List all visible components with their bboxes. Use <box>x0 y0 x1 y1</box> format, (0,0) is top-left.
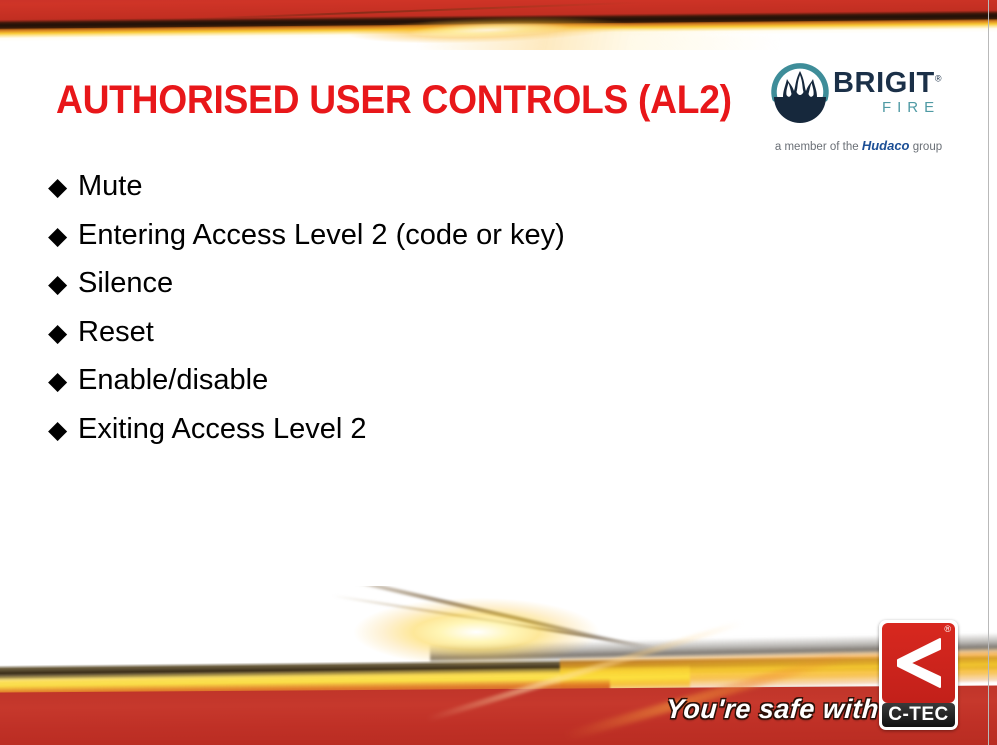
brigit-flame-circle-icon <box>765 61 835 127</box>
slide-title: AUTHORISED USER CONTROLS (AL2) <box>56 78 732 123</box>
list-item: ◆ Mute <box>48 172 768 221</box>
presentation-slide: AUTHORISED USER CONTROLS (AL2) BRIGIT® F… <box>0 0 997 745</box>
list-item-label: Silence <box>78 269 173 298</box>
ctec-logo-mark: ® <box>882 623 955 703</box>
slide-border-right <box>988 0 989 745</box>
list-item-label: Mute <box>78 172 142 201</box>
brigit-fire-logo: BRIGIT® FIRE a member of the Hudaco grou… <box>757 55 960 167</box>
list-item-label: Exiting Access Level 2 <box>78 415 367 444</box>
brigit-name: BRIGIT® <box>833 69 942 98</box>
diamond-bullet-icon: ◆ <box>48 272 78 297</box>
list-item: ◆ Silence <box>48 269 768 318</box>
brigit-tagline-brand: Hudaco <box>862 138 910 153</box>
diamond-bullet-icon: ◆ <box>48 224 78 249</box>
bullet-list: ◆ Mute ◆ Entering Access Level 2 (code o… <box>48 172 768 463</box>
ctec-label: C-TEC <box>882 703 955 727</box>
ctec-registered-mark: ® <box>944 625 951 634</box>
bottom-flare-glow <box>300 588 720 698</box>
list-item: ◆ Reset <box>48 318 768 367</box>
footer-tagline: You're safe with <box>665 694 880 725</box>
top-decorative-banner <box>0 0 997 50</box>
diamond-bullet-icon: ◆ <box>48 369 78 394</box>
brigit-registered-mark: ® <box>935 73 942 83</box>
list-item: ◆ Exiting Access Level 2 <box>48 415 768 464</box>
diamond-bullet-icon: ◆ <box>48 175 78 200</box>
list-item-label: Enable/disable <box>78 366 268 395</box>
list-item-label: Entering Access Level 2 (code or key) <box>78 221 565 250</box>
list-item-label: Reset <box>78 318 154 347</box>
diamond-bullet-icon: ◆ <box>48 418 78 443</box>
brigit-tagline: a member of the Hudaco group <box>757 138 960 153</box>
brigit-wordmark: BRIGIT® FIRE <box>833 69 942 116</box>
brigit-tagline-suffix: group <box>910 141 943 153</box>
ctec-chevron-icon <box>894 635 944 696</box>
diamond-bullet-icon: ◆ <box>48 321 78 346</box>
brigit-logo-top: BRIGIT® FIRE <box>757 55 960 133</box>
list-item: ◆ Entering Access Level 2 (code or key) <box>48 221 768 270</box>
ctec-logo: ® C-TEC <box>879 620 958 730</box>
brigit-subtitle: FIRE <box>833 99 942 116</box>
brigit-tagline-prefix: a member of the <box>775 141 862 153</box>
list-item: ◆ Enable/disable <box>48 366 768 415</box>
